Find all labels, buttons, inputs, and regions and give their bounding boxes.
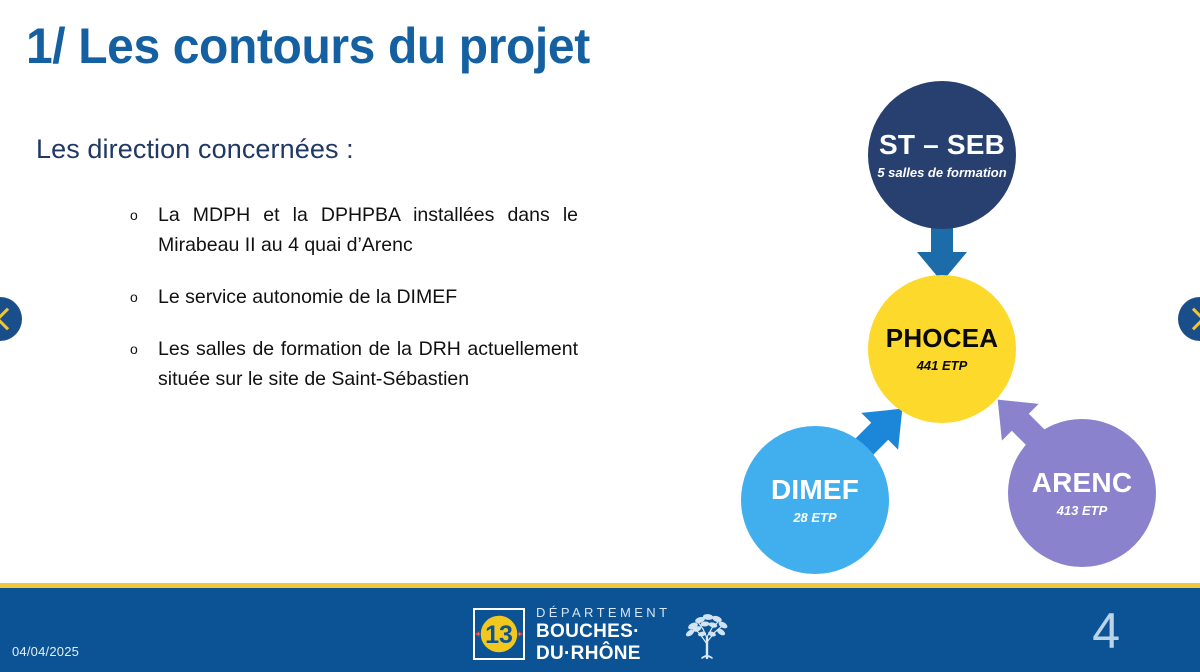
logo-line-bouches: BOUCHES· — [536, 622, 670, 641]
olive-tree-icon — [678, 604, 736, 665]
bullet-marker-icon: o — [128, 334, 158, 364]
logo-wordmark: DÉPARTEMENT BOUCHES· DU·RHÔNE — [536, 606, 670, 663]
section-subtitle: Les direction concernées : — [36, 134, 354, 165]
footer-date: 04/04/2025 — [12, 644, 79, 659]
bullet-list: o La MDPH et la DPHPBA installées dans l… — [128, 200, 578, 416]
node-sublabel: 28 ETP — [793, 511, 836, 525]
list-item: o Les salles de formation de la DRH actu… — [128, 334, 578, 394]
list-item: o Le service autonomie de la DIMEF — [128, 282, 578, 312]
logo-mark-icon: 13 — [472, 607, 526, 661]
diagram-node-st-seb[interactable]: ST – SEB 5 salles de formation — [868, 81, 1016, 229]
slide-footer: 04/04/2025 13 DÉPARTEMENT — [0, 583, 1200, 672]
previous-slide-button[interactable] — [0, 297, 22, 341]
node-sublabel: 441 ETP — [917, 359, 968, 373]
node-label: PHOCEA — [886, 325, 998, 352]
diagram-node-arenc[interactable]: ARENC 413 ETP — [1008, 419, 1156, 567]
chevron-right-icon — [1183, 308, 1200, 331]
bullet-marker-icon: o — [128, 282, 158, 312]
node-sublabel: 5 salles de formation — [877, 166, 1006, 180]
node-sublabel: 413 ETP — [1057, 504, 1108, 518]
organisation-diagram: ST – SEB 5 salles de formation PHOCEA 44… — [700, 70, 1200, 580]
list-item-text: La MDPH et la DPHPBA installées dans le … — [158, 200, 578, 260]
list-item-text: Les salles de formation de la DRH actuel… — [158, 334, 578, 394]
department-logo: 13 DÉPARTEMENT BOUCHES· DU·RHÔNE — [472, 606, 736, 662]
list-item-text: Le service autonomie de la DIMEF — [158, 282, 578, 312]
diagram-node-dimef[interactable]: DIMEF 28 ETP — [741, 426, 889, 574]
bullet-marker-icon: o — [128, 200, 158, 230]
slide-number: 4 — [1092, 602, 1120, 660]
node-label: ST – SEB — [879, 130, 1005, 159]
slide-canvas: 1/ Les contours du projet Les direction … — [0, 0, 1200, 672]
chevron-left-icon — [0, 308, 18, 331]
node-label: DIMEF — [771, 475, 859, 504]
list-item: o La MDPH et la DPHPBA installées dans l… — [128, 200, 578, 260]
svg-text:13: 13 — [485, 621, 513, 649]
node-label: ARENC — [1032, 468, 1133, 497]
logo-line-departement: DÉPARTEMENT — [536, 606, 670, 619]
diagram-node-phocea[interactable]: PHOCEA 441 ETP — [868, 275, 1016, 423]
page-title: 1/ Les contours du projet — [26, 16, 813, 76]
logo-line-du-rhone: DU·RHÔNE — [536, 644, 670, 663]
